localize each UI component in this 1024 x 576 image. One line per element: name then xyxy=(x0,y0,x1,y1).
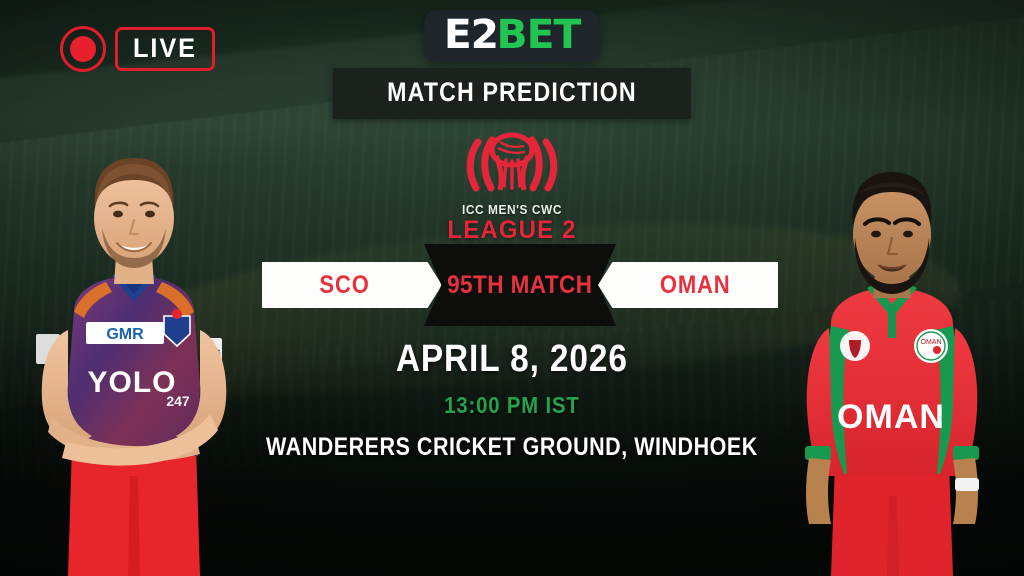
brand-logo-part2: BET xyxy=(497,15,581,55)
match-number-panel: 95TH MATCH xyxy=(424,244,616,326)
match-prediction-title: MATCH PREDICTION xyxy=(387,77,637,108)
brand-logo-part1: E2 xyxy=(444,15,498,55)
player-left: GMR YOLO 247 ENG xyxy=(0,116,270,576)
player-left-image: GMR YOLO 247 ENG xyxy=(0,116,270,576)
tournament-logo: ICC MEN'S CWC LEAGUE 2 xyxy=(427,126,597,243)
match-time: 13:00 PM IST xyxy=(444,392,579,419)
brand-logo: E2 BET xyxy=(424,10,599,62)
live-label-box: LIVE xyxy=(115,27,215,71)
player-right-watch xyxy=(955,478,979,491)
live-indicator-icon xyxy=(60,26,106,72)
svg-text:247: 247 xyxy=(166,393,190,409)
live-dot xyxy=(70,36,96,62)
player-right: OMAN OMAN xyxy=(759,146,1024,576)
tournament-org-label: ICC MEN'S CWC xyxy=(431,203,593,217)
live-label: LIVE xyxy=(133,33,197,64)
team-left-panel: SCO xyxy=(262,262,442,308)
cwc-trophy-icon xyxy=(462,126,562,202)
player-right-image: OMAN OMAN xyxy=(759,146,1024,576)
player-left-sponsor-main: YOLO xyxy=(87,366,176,399)
svg-text:OMAN: OMAN xyxy=(921,339,942,346)
match-date: APRIL 8, 2026 xyxy=(396,338,628,381)
match-venue: WANDERERS CRICKET GROUND, WINDHOEK xyxy=(266,433,758,462)
svg-text:GMR: GMR xyxy=(106,326,144,343)
match-prediction-banner: MATCH PREDICTION xyxy=(333,68,691,119)
match-prediction-graphic: LIVE E2 BET MATCH PREDICTION xyxy=(0,0,1024,576)
match-number-label: 95TH MATCH xyxy=(447,271,592,300)
team-left-name: SCO xyxy=(320,271,370,300)
player-right-jersey-text: OMAN xyxy=(837,398,945,436)
team-right-panel: OMAN xyxy=(598,262,778,308)
player-right-head xyxy=(853,187,931,281)
team-right-name: OMAN xyxy=(660,271,731,300)
live-badge: LIVE xyxy=(60,26,215,72)
